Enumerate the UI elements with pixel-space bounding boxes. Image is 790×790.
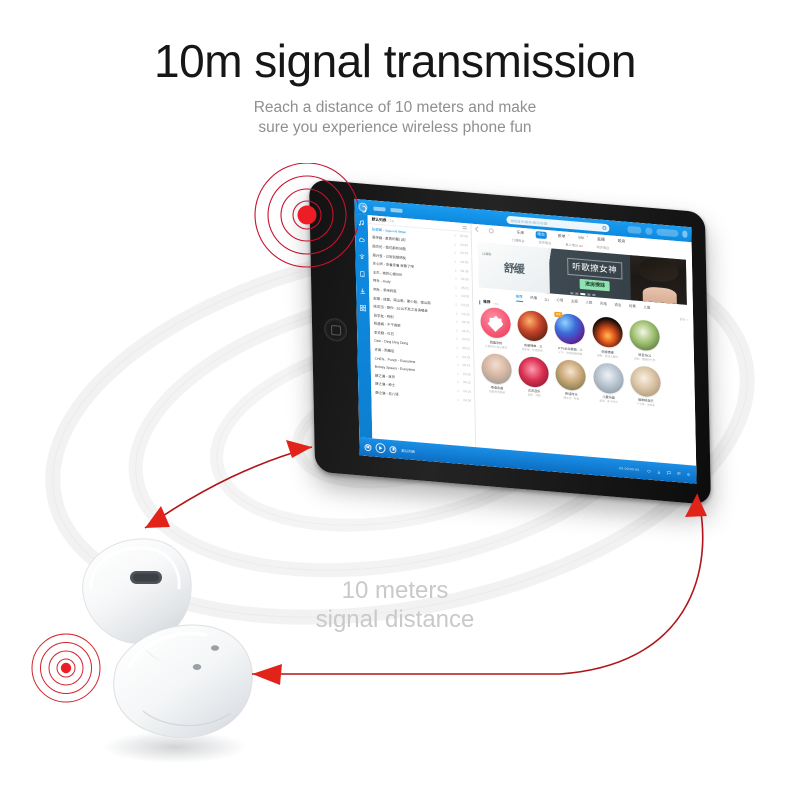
sidebar-item-cloud[interactable] bbox=[358, 236, 365, 244]
music-app: 搜索音乐/歌手/歌词/专辑 bbox=[354, 199, 696, 484]
song-duration: 04:36 bbox=[458, 268, 469, 273]
tablet-screen: 搜索音乐/歌手/歌词/专辑 bbox=[354, 199, 696, 484]
volume-icon[interactable] bbox=[686, 471, 691, 476]
song-duration: 03:58 bbox=[457, 234, 468, 239]
earbud-mic-2 bbox=[211, 645, 219, 651]
player-time: 00:00/00:00 bbox=[619, 466, 639, 472]
song-duration: 04:22 bbox=[460, 380, 471, 385]
album-art[interactable] bbox=[518, 355, 549, 388]
song-duration: 04:05 bbox=[458, 294, 469, 299]
song-duration: 04:54 bbox=[457, 242, 468, 247]
now-playing-title: 默认列表 bbox=[401, 447, 415, 453]
song-duration: 03:52 bbox=[457, 251, 468, 256]
content-tab[interactable]: 歌房 bbox=[616, 237, 628, 245]
song-duration: 04:29 bbox=[458, 311, 469, 316]
header-menu-item-0[interactable] bbox=[373, 206, 385, 211]
playlist-panel[interactable]: 默认列表 (73) 张碧晨 - годы не беда▯03:58周传雄 - … bbox=[368, 215, 477, 447]
album-cell[interactable]: 独家KTV必点歌曲 · 二KTV · 欢唱热播榜单 bbox=[554, 313, 587, 356]
banner-cta-button[interactable]: 进房撩妹 bbox=[580, 278, 610, 291]
favorite-icon[interactable] bbox=[646, 468, 651, 473]
content-tab[interactable]: MV• bbox=[576, 234, 586, 242]
album-cell[interactable]: 咖啡轻音乐下午茶 · 治愈系 bbox=[629, 365, 662, 408]
page-title: 10m signal transmission bbox=[0, 34, 790, 88]
song-duration: 05:01 bbox=[458, 285, 469, 290]
banner-dot[interactable] bbox=[570, 292, 573, 293]
album-art[interactable] bbox=[517, 310, 548, 343]
song-duration: 03:32 bbox=[458, 303, 469, 308]
song-duration: 03:51 bbox=[460, 363, 471, 368]
banner-headline: 听歌撩女神 bbox=[567, 257, 622, 279]
album-cell[interactable]: 古风音乐国风 · 戏腔 bbox=[517, 355, 550, 398]
previous-track-icon[interactable] bbox=[364, 443, 371, 451]
album-cell[interactable]: 粤语金曲经典粤语老歌 bbox=[480, 352, 513, 395]
category-tab[interactable]: DJ bbox=[545, 297, 549, 301]
category-tab[interactable]: 心情 bbox=[556, 298, 563, 304]
earbud-mic-1 bbox=[193, 664, 201, 670]
album-art[interactable] bbox=[481, 352, 512, 385]
album-cell[interactable]: 伤感情歌情歌 · 夜深人静时 bbox=[591, 316, 624, 359]
header-menu[interactable] bbox=[373, 206, 402, 212]
settings-icon[interactable] bbox=[682, 230, 687, 237]
album-cell[interactable]: 我喜欢的只喜欢的 每日推荐 bbox=[479, 306, 512, 349]
subtitle-line-1: Reach a distance of 10 meters and make bbox=[0, 98, 790, 118]
song-duration: 03:41 bbox=[459, 354, 470, 359]
song-duration: 04:01 bbox=[459, 346, 470, 351]
category-tab[interactable]: 热播 bbox=[530, 296, 537, 302]
category-tab[interactable]: 主题 bbox=[571, 299, 578, 305]
song-duration: 04:18 bbox=[460, 389, 471, 394]
album-cell[interactable]: 热歌榜单 · 三热歌榜 · 华语新歌... bbox=[516, 310, 549, 353]
album-art[interactable] bbox=[556, 358, 587, 391]
category-tab[interactable]: 语言 bbox=[614, 303, 621, 309]
content-tab[interactable]: 歌单• bbox=[556, 232, 568, 240]
subtitle-line-2: sure you experience wireless phone fun bbox=[0, 118, 790, 138]
banner-small-text: 让我陪 bbox=[482, 252, 491, 257]
song-duration: 04:01 bbox=[459, 329, 470, 334]
banner-center: 听歌撩女神 进房撩妹 bbox=[553, 249, 637, 301]
playlist-count: (73) bbox=[388, 219, 394, 223]
banner-dot[interactable] bbox=[592, 294, 595, 295]
search-placeholder: 搜索音乐/歌手/歌词/专辑 bbox=[510, 218, 547, 226]
category-tab[interactable]: 场景 bbox=[629, 304, 636, 310]
section-accent-bar bbox=[479, 300, 480, 304]
album-cell[interactable]: 民谣时光慢生活 · 民谣 bbox=[555, 358, 588, 401]
login-button[interactable] bbox=[656, 228, 678, 237]
song-duration: 03:50 bbox=[460, 372, 471, 377]
download-icon[interactable] bbox=[656, 469, 661, 474]
album-art[interactable] bbox=[555, 313, 586, 346]
album-art[interactable] bbox=[629, 319, 660, 352]
header-right-actions[interactable] bbox=[627, 226, 687, 238]
album-art[interactable] bbox=[593, 361, 624, 394]
comment-icon[interactable] bbox=[666, 470, 671, 475]
content-sub-tab[interactable]: 同步电台 bbox=[597, 244, 610, 252]
playlist-title: 默认列表 bbox=[372, 217, 387, 223]
distance-caption: 10 meters signal distance bbox=[0, 576, 790, 635]
sidebar-item-more[interactable] bbox=[360, 304, 367, 312]
banner-dot[interactable] bbox=[587, 294, 590, 295]
section-more-link[interactable]: 更多 > bbox=[680, 317, 689, 322]
sidebar-item-device[interactable] bbox=[359, 270, 366, 278]
album-cell[interactable]: 轻音乐DJ轻松 · 慵懒的午后 bbox=[628, 319, 661, 362]
page-subtitle: Reach a distance of 10 meters and make s… bbox=[0, 98, 790, 139]
sidebar-item-download[interactable] bbox=[359, 287, 366, 295]
open-vip-button[interactable] bbox=[627, 226, 641, 234]
content-panel: 乐库电台歌单•MV•直播歌房 公播电台有声电台真人电台 hot同步电台 让我陪 … bbox=[472, 224, 697, 466]
song-duration: 04:56 bbox=[457, 260, 468, 265]
banner-dot[interactable] bbox=[575, 293, 578, 294]
category-tab[interactable]: 人群 bbox=[585, 300, 592, 306]
banner-model-photo bbox=[630, 255, 687, 305]
content-tab[interactable]: 电台 bbox=[535, 231, 547, 239]
play-icon[interactable] bbox=[375, 443, 385, 454]
album-art[interactable] bbox=[630, 365, 661, 398]
tablet-device: 搜索音乐/歌手/歌词/专辑 bbox=[312, 196, 722, 496]
app-logo-icon bbox=[358, 202, 367, 212]
category-tab[interactable]: 推荐 bbox=[516, 294, 523, 300]
sidebar-item-music[interactable] bbox=[358, 219, 365, 227]
category-tab[interactable]: 儿童 bbox=[643, 305, 650, 311]
content-tab[interactable]: 乐库 bbox=[515, 229, 527, 237]
search-icon[interactable] bbox=[602, 226, 606, 230]
sidebar-item-radio[interactable] bbox=[358, 253, 365, 261]
song-duration: 04:30 bbox=[459, 320, 470, 325]
category-tab[interactable]: 风格 bbox=[600, 302, 607, 308]
section-subtitle: Hits bbox=[493, 301, 498, 305]
song-duration: 04:02 bbox=[459, 337, 470, 342]
player-right-icons[interactable] bbox=[646, 468, 691, 477]
caption-line-1: 10 meters bbox=[0, 576, 790, 605]
content-sub-tab[interactable]: 真人电台 hot bbox=[565, 242, 582, 250]
section-title: 推荐 bbox=[483, 300, 490, 306]
tablet-body: 搜索音乐/歌手/歌词/专辑 bbox=[309, 179, 711, 505]
content-sub-tab[interactable]: 公播电台 bbox=[512, 237, 525, 245]
back-arrow-icon[interactable] bbox=[475, 226, 481, 232]
song-duration: 03:58 bbox=[458, 277, 469, 282]
album-cell[interactable]: 儿童乐园童谣 · 亲子时光 bbox=[592, 361, 625, 404]
next-track-icon[interactable] bbox=[389, 445, 396, 453]
list-menu-icon[interactable] bbox=[463, 225, 467, 228]
content-sub-tab[interactable]: 有声电台 bbox=[539, 239, 552, 247]
header-menu-item-1[interactable] bbox=[390, 207, 402, 212]
home-button[interactable] bbox=[324, 317, 347, 342]
banner-big-text: 舒缓 bbox=[504, 259, 524, 277]
playlist-icon[interactable] bbox=[676, 471, 681, 476]
caption-line-2: signal distance bbox=[0, 605, 790, 634]
banner-left-art: 让我陪 舒缓 bbox=[478, 242, 550, 293]
wireless-earbuds bbox=[25, 515, 285, 785]
refresh-icon[interactable] bbox=[489, 228, 494, 233]
album-art[interactable] bbox=[480, 306, 511, 339]
song-duration: 04:06 bbox=[460, 397, 471, 402]
messages-button[interactable] bbox=[645, 227, 652, 235]
content-tab[interactable]: 直播 bbox=[595, 236, 607, 244]
album-art[interactable] bbox=[592, 316, 623, 349]
album-tag: 独家 bbox=[555, 312, 563, 317]
